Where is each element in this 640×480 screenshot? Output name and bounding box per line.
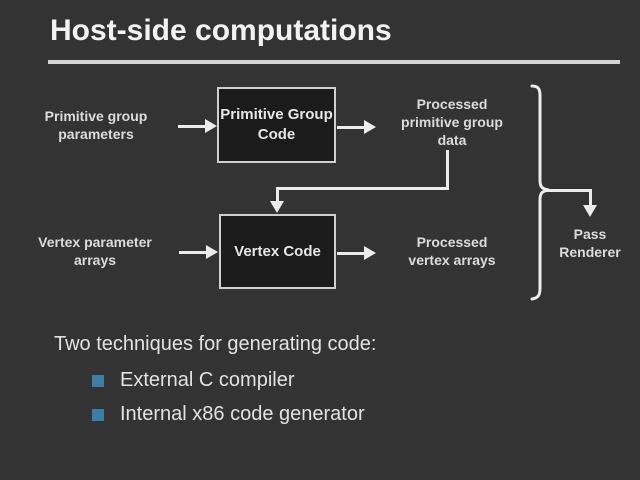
bullet-item-label: External C compiler [120,369,295,392]
diagram-label-vertex-parameter-arrays: Vertex parameter arrays [12,233,178,269]
diagram-label-primitive-group-parameters: Primitive group parameters [14,107,178,143]
diagram-label-pass-renderer: Pass Renderer [546,225,634,261]
body-lead-text: Two techniques for generating code: [54,333,376,356]
arrowhead-right-icon [364,246,376,260]
bullet-square-icon [92,409,104,421]
bullet-item-label: Internal x86 code generator [120,403,365,426]
connector-processed-primitive-across [276,187,449,190]
curly-brace-icon [528,84,554,302]
arrowhead-down-icon [583,205,597,217]
connector-box-to-processed-vertex [337,252,367,255]
diagram-label-processed-vertex-arrays: Processed vertex arrays [380,233,524,269]
arrowhead-right-icon [205,119,217,133]
bullet-item-internal-x86-code-generator: Internal x86 code generator [92,403,365,426]
arrowhead-right-icon [364,120,376,134]
arrowhead-right-icon [206,245,218,259]
diagram-label-processed-primitive-group-data: Processed primitive group data [378,95,526,149]
arrowhead-down-icon [270,201,284,213]
slide-canvas: Host-side computations Primitive group p… [0,0,640,480]
connector-brace-to-pass-renderer [545,189,592,192]
connector-box-to-processed-primitive [337,126,367,129]
bullet-item-external-c-compiler: External C compiler [92,369,295,392]
diagram-box-primitive-group-code: Primitive Group Code [217,87,336,163]
page-title: Host-side computations [50,14,392,48]
diagram-box-vertex-code: Vertex Code [219,214,336,289]
bullet-square-icon [92,375,104,387]
title-divider [48,60,620,64]
connector-processed-primitive-down [446,150,449,190]
